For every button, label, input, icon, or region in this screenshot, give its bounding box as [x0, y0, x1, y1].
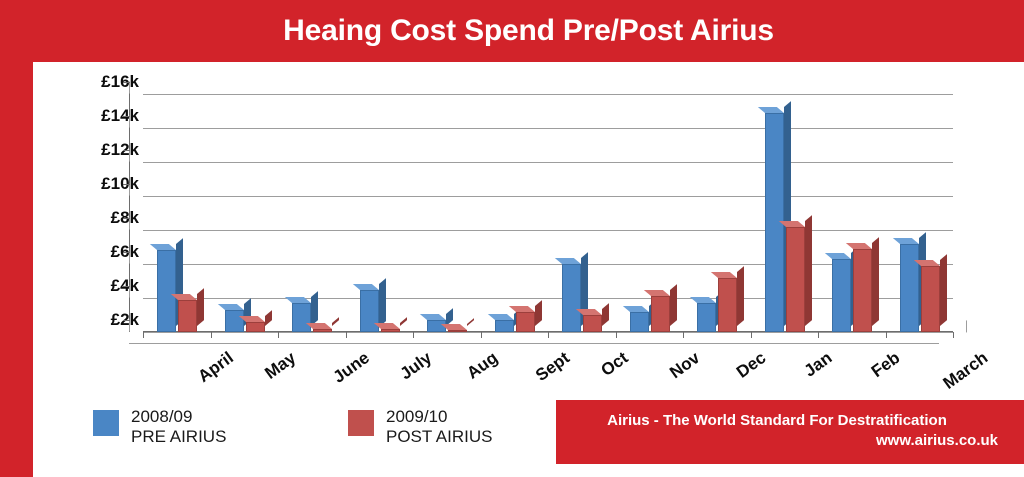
chart-page: Heaing Cost Spend Pre/Post Airius £16k£1… — [0, 0, 1024, 477]
legend-label-pre-line1: 2008/09 — [131, 407, 192, 426]
plot-area — [143, 94, 953, 332]
bar-side — [940, 254, 947, 326]
bar-group — [683, 94, 751, 332]
y-axis-tick — [123, 116, 130, 117]
bar-pre-airius — [157, 250, 176, 332]
bar-face — [225, 310, 244, 332]
bar-side — [670, 284, 677, 326]
bar-pre-airius — [900, 244, 919, 332]
bar-face — [292, 303, 311, 332]
page-title: Heaing Cost Spend Pre/Post Airius — [33, 0, 1024, 62]
bar-top — [420, 314, 446, 320]
left-red-stripe — [0, 0, 33, 477]
y-axis-labels: £16k£14k£12k£10k£8k£6k£4k£2k — [61, 84, 139, 342]
bar-top — [508, 306, 534, 312]
y-axis-tick — [123, 286, 130, 287]
bar-face — [651, 296, 670, 332]
bar-group — [751, 94, 819, 332]
bar-top — [285, 297, 311, 303]
bar-face — [360, 290, 379, 333]
bar-top — [352, 284, 378, 290]
bar-top — [487, 314, 513, 320]
x-axis-tick-label: March — [939, 348, 991, 394]
bar-face — [448, 330, 467, 332]
bar-pre-airius — [832, 259, 851, 332]
bar-pre-airius — [562, 264, 581, 332]
legend-swatch-post — [348, 410, 374, 436]
bar-post-airius — [381, 329, 400, 332]
bar-top — [643, 290, 669, 296]
bar-face — [516, 312, 535, 332]
bar-side — [197, 288, 204, 326]
x-axis-tick-label: Sept — [532, 348, 574, 386]
bar-pre-airius — [697, 303, 716, 332]
bar-top — [622, 306, 648, 312]
bar-side — [805, 215, 812, 326]
x-axis-labels: AprilMayJuneJulyAugSeptOctNovDecJanFebMa… — [143, 338, 953, 408]
y-axis-tick — [123, 82, 130, 83]
footer-tagline: Airius - The World Standard For Destrati… — [556, 411, 998, 431]
bar-post-airius — [448, 330, 467, 332]
legend-label-pre: 2008/09 PRE AIRIUS — [131, 407, 226, 447]
legend-label-pre-line2: PRE AIRIUS — [131, 427, 226, 446]
bar-side — [400, 317, 407, 326]
bar-group — [278, 94, 346, 332]
bar-face — [246, 322, 265, 332]
bar-side — [311, 291, 318, 326]
bar-face — [157, 250, 176, 332]
bar-top — [825, 253, 851, 259]
bar-post-airius — [178, 300, 197, 332]
bar-side — [872, 237, 879, 326]
bar-group — [818, 94, 886, 332]
bar-post-airius — [516, 312, 535, 332]
bar-top — [846, 243, 872, 249]
bar-side — [332, 317, 339, 326]
bar-top — [555, 258, 581, 264]
bar-pre-airius — [495, 320, 514, 332]
x-axis-tick-label: Aug — [463, 348, 501, 384]
bar-face — [313, 329, 332, 332]
bar-post-airius — [583, 315, 602, 332]
bar-pre-airius — [360, 290, 379, 333]
legend-label-post: 2009/10 POST AIRIUS — [386, 407, 492, 447]
bar-top — [150, 244, 176, 250]
bar-side — [602, 303, 609, 326]
footer-banner: Airius - The World Standard For Destrati… — [556, 400, 1024, 464]
x-axis-tick-label: Nov — [666, 348, 704, 383]
x-axis-tick-label: Feb — [868, 348, 904, 382]
bar-face — [562, 264, 581, 332]
floor-right-edge — [952, 320, 967, 345]
bar-pre-airius — [630, 312, 649, 332]
legend-swatch-pre — [93, 410, 119, 436]
bar-group — [886, 94, 954, 332]
x-axis-tick-label: Jan — [800, 348, 835, 381]
bar-top — [711, 272, 737, 278]
bar-face — [697, 303, 716, 332]
bar-face — [853, 249, 872, 332]
bar-group — [548, 94, 616, 332]
bar-post-airius — [313, 329, 332, 332]
bar-group — [211, 94, 279, 332]
y-axis-tick — [123, 320, 130, 321]
bar-face — [921, 266, 940, 332]
bar-side — [265, 310, 272, 326]
legend-label-post-line1: 2009/10 — [386, 407, 447, 426]
y-axis-tick — [123, 252, 130, 253]
x-axis-tick-label: April — [194, 348, 237, 387]
bar-face — [900, 244, 919, 332]
bar-group — [346, 94, 414, 332]
legend-label-post-line2: POST AIRIUS — [386, 427, 492, 446]
x-axis-tick-label: May — [261, 348, 300, 384]
bar-post-airius — [718, 278, 737, 332]
bar-face — [832, 259, 851, 332]
bar-side — [737, 266, 744, 326]
bar-face — [178, 300, 197, 332]
bar-top — [217, 304, 243, 310]
bar-side — [467, 318, 474, 326]
bar-group — [413, 94, 481, 332]
bar-face — [495, 320, 514, 332]
y-axis-tick — [123, 184, 130, 185]
bar-face — [381, 329, 400, 332]
bar-top — [690, 297, 716, 303]
x-axis-tick-label: Oct — [597, 348, 632, 381]
bar-face — [583, 315, 602, 332]
bar-top — [892, 238, 918, 244]
x-axis-tick-label: Dec — [733, 348, 770, 383]
bar-pre-airius — [292, 303, 311, 332]
bar-face — [630, 312, 649, 332]
bar-group — [481, 94, 549, 332]
bar-post-airius — [246, 322, 265, 332]
bar-face — [718, 278, 737, 332]
x-axis-tick-label: June — [330, 348, 374, 388]
legend-item-post: 2009/10 POST AIRIUS — [348, 407, 492, 447]
bar-side — [379, 278, 386, 326]
bar-post-airius — [853, 249, 872, 332]
bar-group — [616, 94, 684, 332]
bar-post-airius — [921, 266, 940, 332]
bar-group — [143, 94, 211, 332]
chart-legend: 2008/09 PRE AIRIUS 2009/10 POST AIRIUS — [93, 407, 553, 467]
bar-side — [535, 300, 542, 326]
bar-post-airius — [651, 296, 670, 332]
bar-top — [757, 107, 783, 113]
y-axis-tick — [123, 218, 130, 219]
x-axis-tick — [953, 332, 954, 338]
y-axis-tick — [123, 150, 130, 151]
bar-pre-airius — [225, 310, 244, 332]
bar-post-airius — [786, 227, 805, 332]
bar-face — [786, 227, 805, 332]
footer-website: www.airius.co.uk — [556, 431, 998, 451]
x-axis-tick-label: July — [396, 348, 435, 384]
legend-item-pre: 2008/09 PRE AIRIUS — [93, 407, 226, 447]
